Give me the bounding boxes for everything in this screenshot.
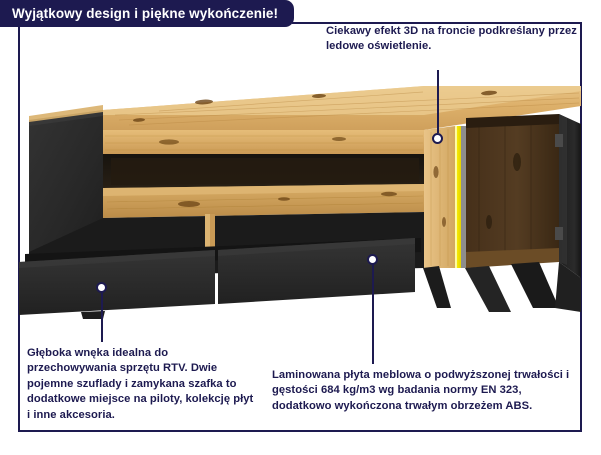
leader-line-led-3d-front [437,70,439,133]
callout-text-laminated-board: Laminowana płyta meblowa o podwyższonej … [272,368,582,414]
leader-line-storage-niche [101,292,103,342]
product-infographic: Ciekawy efekt 3D na froncie podkreślany … [0,0,601,455]
header-banner: Wyjątkowy design i piękne wykończenie! [0,0,294,27]
callout-text-storage-niche: Głęboka wnęka idealna do przechowywania … [27,346,259,423]
leader-line-laminated-board [372,264,374,364]
led-strip-marker[interactable] [432,133,443,144]
header-banner-text: Wyjątkowy design i piękne wykończenie! [12,6,278,21]
callout-text-led-3d-front: Ciekawy efekt 3D na froncie podkreślany … [326,24,578,55]
